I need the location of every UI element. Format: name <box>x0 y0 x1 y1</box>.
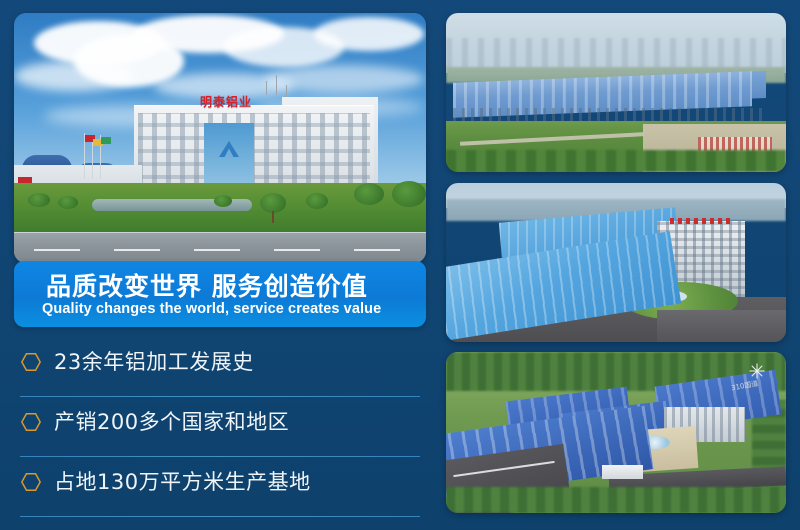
tree-trunk <box>272 211 274 223</box>
tree-canopy <box>392 181 426 207</box>
promo-page: 明泰铝业 <box>0 0 800 530</box>
gallery-column: 310国道 <box>446 13 786 513</box>
rooftop-sign <box>670 218 731 224</box>
feature-item[interactable]: 产销200多个国家和地区 <box>14 397 426 457</box>
slogan-english: Quality changes the world, service creat… <box>42 301 381 317</box>
internal-road <box>657 310 786 342</box>
tree-line <box>446 150 786 172</box>
gallery-photo-2[interactable] <box>446 183 786 342</box>
antenna-mast <box>286 85 287 97</box>
feature-label: 23余年铝加工发展史 <box>54 346 254 376</box>
feature-label: 产销200多个国家和地区 <box>54 406 289 436</box>
road-marking <box>114 249 160 251</box>
cloud <box>314 17 424 51</box>
hero-photo[interactable]: 明泰铝业 <box>14 13 426 263</box>
cloud <box>14 61 134 91</box>
hexagon-icon <box>20 471 42 493</box>
slogan-chinese: 品质改变世界 服务创造价值 <box>46 267 368 303</box>
tree-canopy <box>260 193 286 213</box>
road-marking <box>194 249 240 251</box>
flag <box>101 137 111 144</box>
feature-item[interactable]: 占地130万平方米生产基地 <box>14 457 426 517</box>
bush <box>58 196 78 209</box>
slogan-banner: 品质改变世界 服务创造价值 Quality changes the world,… <box>14 261 426 327</box>
tree-line-bottom <box>446 487 786 513</box>
tree-canopy <box>306 193 328 209</box>
cloud <box>264 65 424 93</box>
hexagon-icon <box>20 411 42 433</box>
antenna-mast <box>276 75 277 95</box>
building-sign-text: 明泰铝业 <box>200 93 276 107</box>
left-column: 明泰铝业 <box>14 13 426 517</box>
bush <box>28 193 50 207</box>
entrance-gate <box>602 465 643 479</box>
gallery-photo-1[interactable] <box>446 13 786 172</box>
feature-list: 23余年铝加工发展史 产销200多个国家和地区 占地130万 <box>14 337 426 517</box>
road-marking <box>274 249 320 251</box>
road <box>14 233 426 263</box>
bush <box>214 195 232 207</box>
road-marking <box>34 249 80 251</box>
feature-divider <box>20 516 420 518</box>
tree-canopy <box>354 183 384 205</box>
road-marking <box>354 249 400 251</box>
gallery-photo-3[interactable]: 310国道 <box>446 352 786 513</box>
feature-label: 占地130万平方米生产基地 <box>54 466 311 496</box>
hexagon-icon <box>20 351 42 373</box>
feature-item[interactable]: 23余年铝加工发展史 <box>14 337 426 397</box>
compass-star-icon <box>748 362 766 380</box>
